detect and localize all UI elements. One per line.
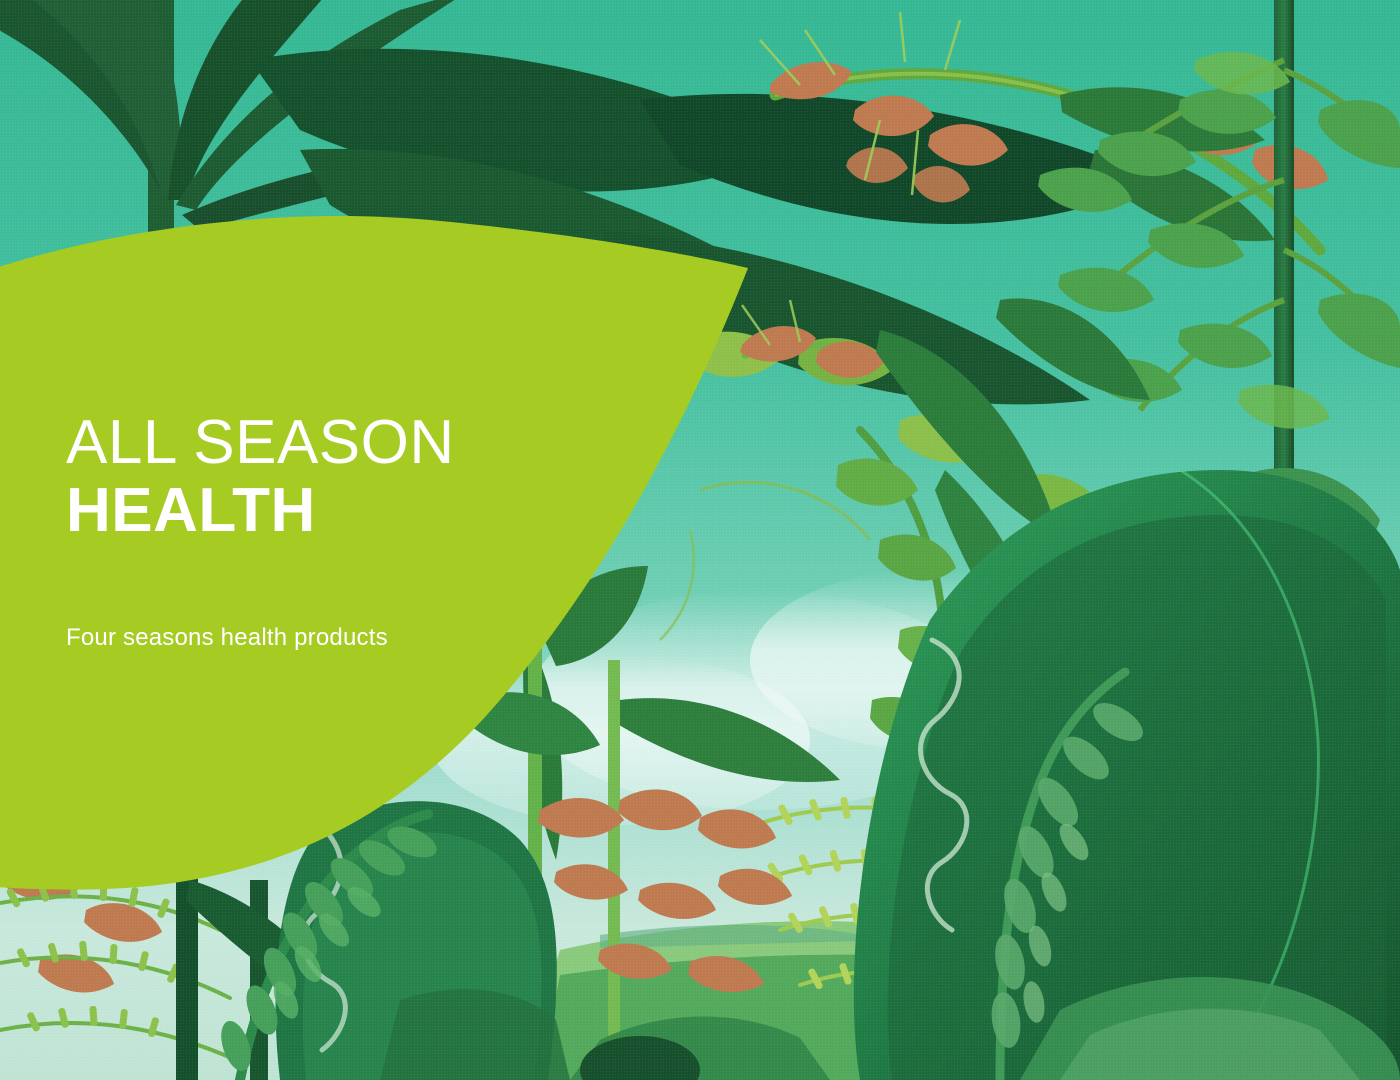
subtitle-text: Four seasons health products <box>66 546 586 653</box>
poster-canvas: ALL SEASON HEALTH Four seasons health pr… <box>0 0 1400 1080</box>
page-title-line-1: ALL SEASON <box>66 410 586 476</box>
headline-block: ALL SEASON HEALTH Four seasons health pr… <box>66 410 586 653</box>
page-title-line-2: HEALTH <box>66 476 586 546</box>
